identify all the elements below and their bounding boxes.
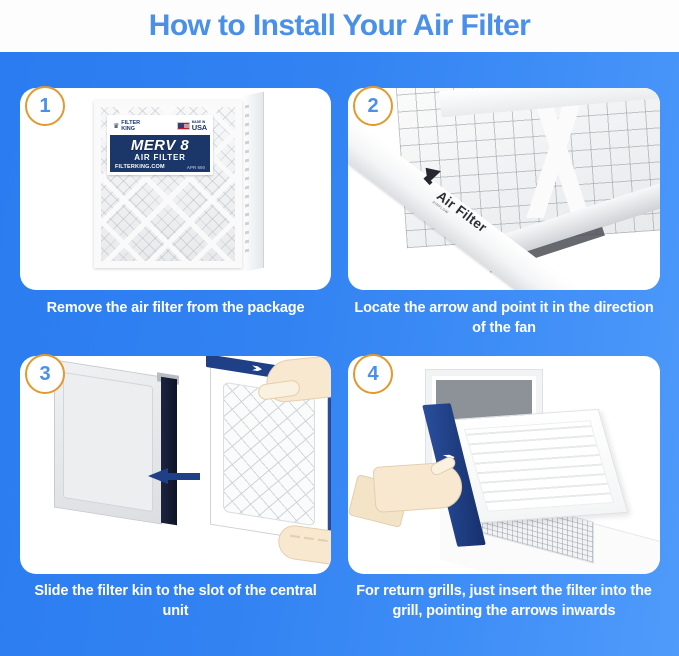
- step-panel-1: ♛ FILTER KING MADE IN USA: [20, 88, 331, 290]
- hand-lower: [276, 523, 331, 566]
- step-panel-4: 4: [348, 356, 660, 574]
- step-panel-3: 3: [20, 356, 331, 574]
- step-caption-2: Locate the arrow and point it in the dir…: [348, 299, 660, 338]
- infographic-canvas: ♛ FILTER KING MADE IN USA: [0, 52, 679, 656]
- website-text: FILTERKING.COM: [115, 164, 165, 170]
- step-badge-4: 4: [353, 354, 393, 394]
- step-number-1: 1: [39, 96, 50, 116]
- central-unit-body: [54, 359, 162, 524]
- grill-louvers: [464, 420, 614, 512]
- label-header-strip: ♛ FILTER KING MADE IN USA: [110, 118, 210, 135]
- apr-rating-text: APR 650: [187, 165, 205, 170]
- crown-icon: ♛: [113, 123, 119, 130]
- product-type-text: AIR FILTER: [110, 153, 210, 162]
- step-badge-2: 2: [353, 86, 393, 126]
- filter-blue-side-edge: [328, 373, 331, 548]
- step-caption-3: Slide the filter kin to the slot of the …: [20, 582, 331, 621]
- filter-into-grill-illustration: [348, 356, 660, 574]
- step-number-3: 3: [39, 364, 50, 384]
- boxed-air-filter-photo: ♛ FILTER KING MADE IN USA: [94, 96, 264, 274]
- made-in-usa-mark: MADE IN USA: [177, 121, 207, 132]
- filter-media-diamond-pattern: [223, 382, 315, 527]
- step-badge-3: 3: [25, 354, 65, 394]
- step-caption-4: For return grills, just insert the filte…: [348, 582, 660, 621]
- filter-king-logo: ♛ FILTER KING: [113, 121, 140, 133]
- step-number-4: 4: [367, 364, 378, 384]
- page-title: How to Install Your Air Filter: [149, 9, 530, 43]
- step-caption-1: Remove the air filter from the package: [20, 299, 331, 319]
- step-card-3: [20, 356, 331, 574]
- step-card-4: [348, 356, 660, 574]
- filter-side-edge: [242, 92, 264, 272]
- brand-name: FILTER KING: [121, 121, 140, 133]
- step-card-1: ♛ FILTER KING MADE IN USA: [20, 88, 331, 290]
- filter-brand-label: ♛ FILTER KING MADE IN USA: [107, 115, 213, 175]
- air-filter-corner-photo: Air Filter AIRFLOW: [348, 88, 660, 290]
- central-unit-filter-slot: [161, 377, 177, 526]
- insert-direction-arrow-icon: [148, 468, 200, 484]
- page-header: How to Install Your Air Filter: [0, 0, 679, 52]
- filter-front-face: ♛ FILTER KING MADE IN USA: [94, 100, 242, 268]
- step-number-2: 2: [367, 96, 378, 116]
- step-card-2: Air Filter AIRFLOW: [348, 88, 660, 290]
- return-grill-door: [450, 409, 629, 523]
- country-text: USA: [192, 124, 207, 132]
- usa-flag-icon: [177, 122, 190, 130]
- step-badge-1: 1: [25, 86, 65, 126]
- merv-rating-text: MERV 8: [110, 137, 210, 154]
- central-unit-panel: [63, 372, 153, 512]
- step-panel-2: Air Filter AIRFLOW 2: [348, 88, 660, 290]
- filter-into-unit-illustration: [20, 356, 331, 574]
